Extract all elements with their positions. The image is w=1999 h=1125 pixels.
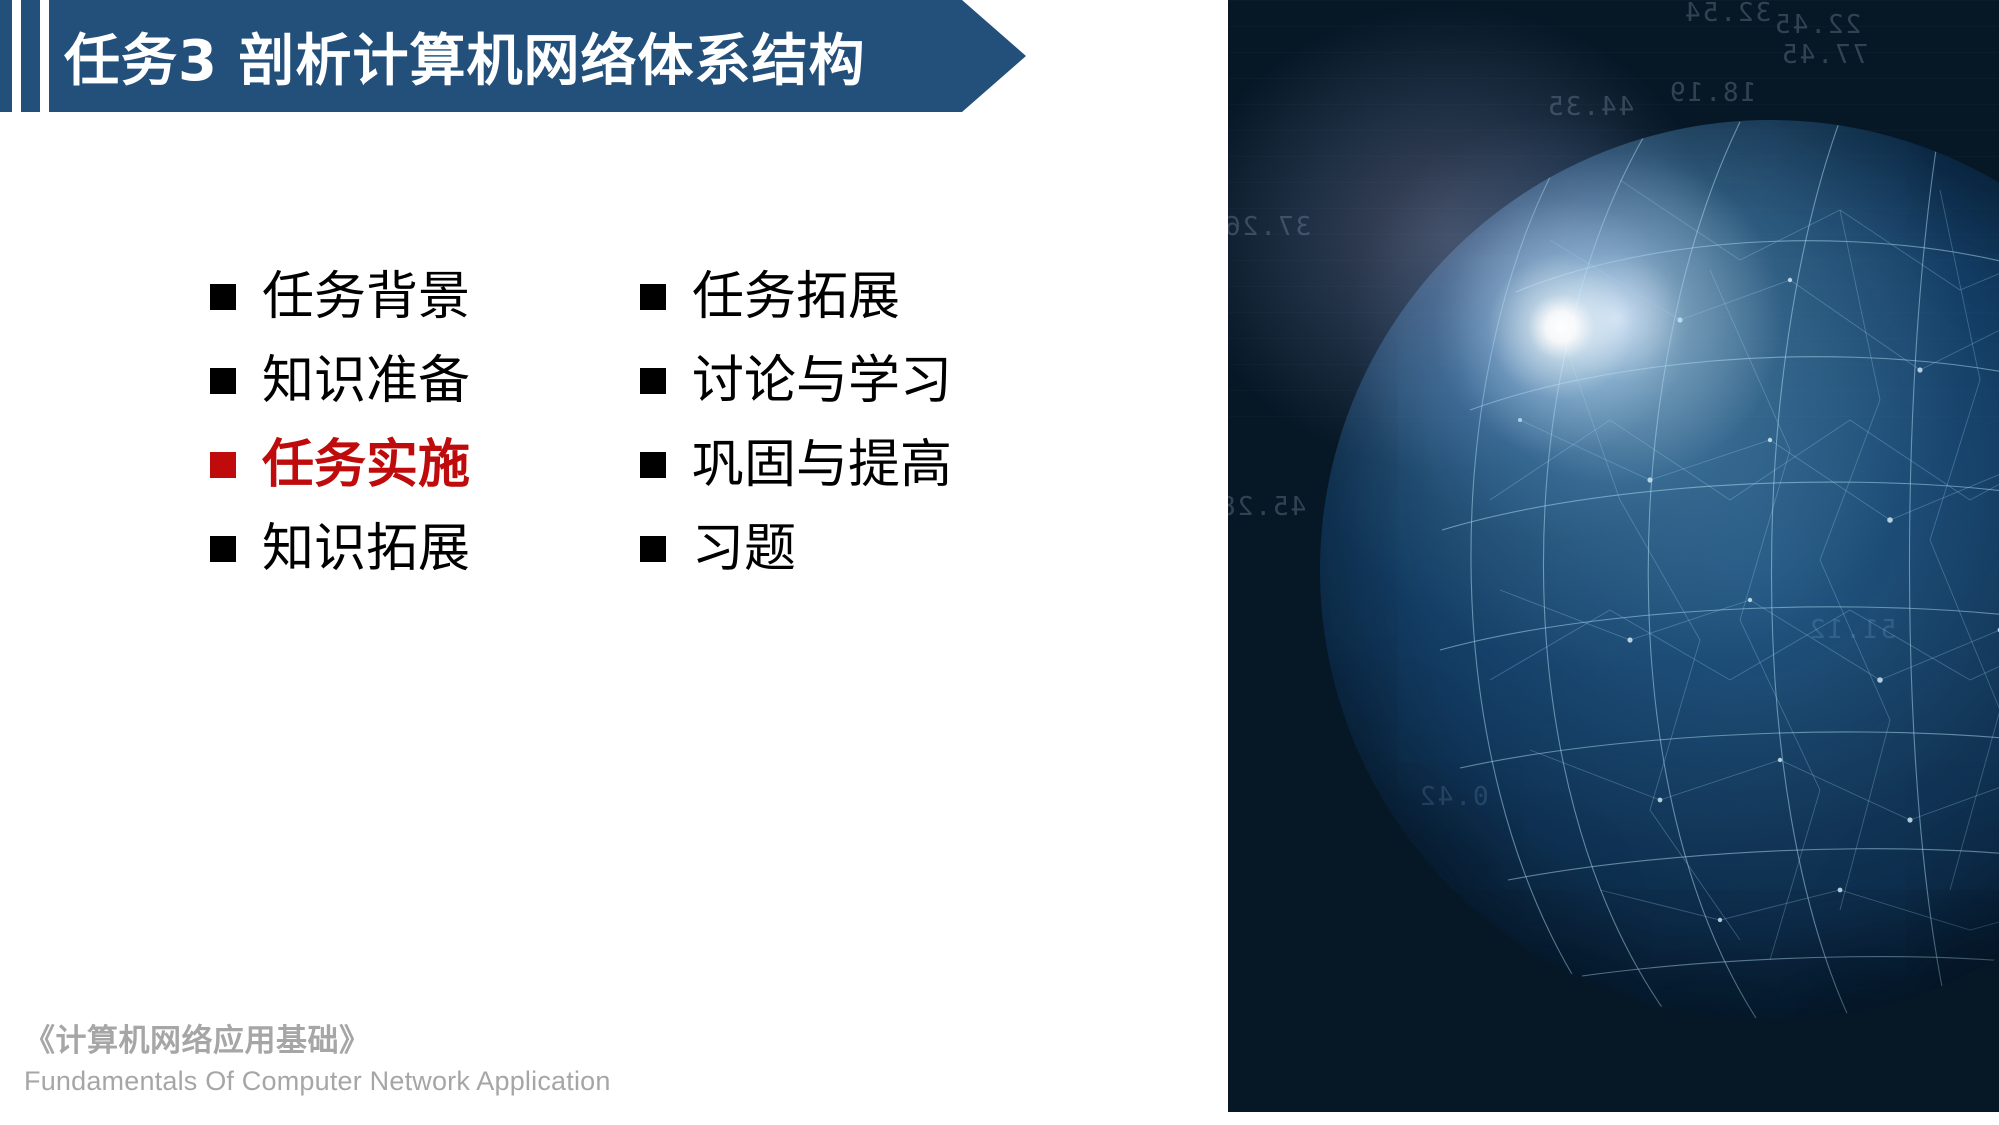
list-item[interactable]: 知识拓展 — [210, 523, 640, 575]
square-bullet-icon — [210, 452, 236, 478]
list-item[interactable]: 任务拓展 — [640, 271, 990, 323]
list-item-label: 习题 — [692, 523, 796, 575]
list-item[interactable]: 知识准备 — [210, 355, 640, 407]
network-globe-image: 22.45 32.54 77.45 44.35 18.19 37.26 45.2… — [1228, 0, 1999, 1112]
course-title-cn: 《计算机网络应用基础》 — [24, 1021, 784, 1063]
square-bullet-icon — [210, 536, 236, 562]
list-item-label: 知识拓展 — [262, 523, 470, 575]
list-item[interactable]: 任务背景 — [210, 271, 640, 323]
slide-root: 任务3 剖析计算机网络体系结构 任务背景 任务拓展 知识准备 讨论与学习 任务实… — [0, 0, 1999, 1125]
page-title: 任务3 剖析计算机网络体系结构 — [64, 0, 865, 112]
list-item-label: 任务实施 — [262, 439, 470, 491]
list-item[interactable]: 习题 — [640, 523, 990, 575]
list-item-label: 知识准备 — [262, 355, 470, 407]
square-bullet-icon — [640, 284, 666, 310]
banner-stripe-inner — [40, 0, 49, 112]
banner-stripe-outer — [12, 0, 21, 112]
list-item-label: 任务背景 — [262, 271, 470, 323]
image-bottom-strip — [1228, 1112, 1999, 1125]
course-title-en: Fundamentals Of Computer Network Applica… — [24, 1063, 784, 1099]
square-bullet-icon — [210, 284, 236, 310]
list-item-label: 讨论与学习 — [692, 355, 952, 407]
agenda-list: 任务背景 任务拓展 知识准备 讨论与学习 任务实施 巩固与提高 知识拓展 — [210, 255, 990, 591]
list-item-label: 任务拓展 — [692, 271, 900, 323]
square-bullet-icon — [640, 452, 666, 478]
square-bullet-icon — [210, 368, 236, 394]
list-item-active[interactable]: 任务实施 — [210, 439, 640, 491]
header-banner: 任务3 剖析计算机网络体系结构 — [0, 0, 1030, 112]
list-item-label: 巩固与提高 — [692, 439, 952, 491]
list-item[interactable]: 讨论与学习 — [640, 355, 990, 407]
list-item[interactable]: 巩固与提高 — [640, 439, 990, 491]
square-bullet-icon — [640, 536, 666, 562]
footer: 《计算机网络应用基础》 Fundamentals Of Computer Net… — [24, 1021, 784, 1099]
square-bullet-icon — [640, 368, 666, 394]
